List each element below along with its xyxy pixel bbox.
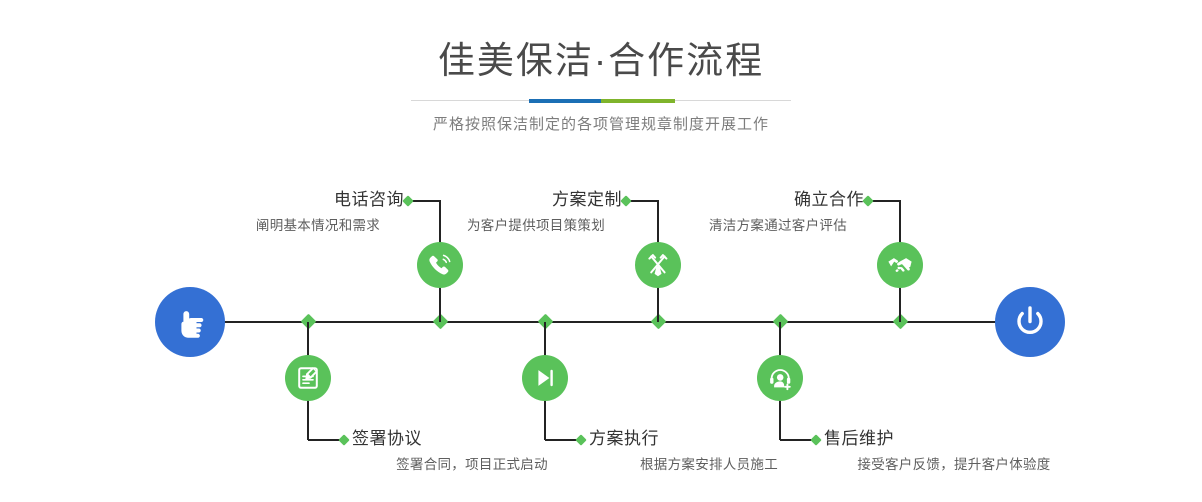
step-icon-phone-call[interactable] — [417, 242, 463, 288]
handshake-icon — [885, 250, 915, 280]
step-label-2: 签署协议 签署合同，项目正式启动 — [352, 427, 592, 474]
step-label-5: 确立合作 清洁方案通过客户评估 — [692, 188, 864, 235]
power-icon — [1009, 301, 1051, 343]
step-icon-play-execute[interactable] — [522, 355, 568, 401]
step-icon-document-edit[interactable] — [285, 355, 331, 401]
step-title: 方案定制 — [450, 188, 622, 213]
step-icon-customer-service[interactable] — [757, 355, 803, 401]
play-execute-icon — [532, 365, 558, 391]
step-connector-horizontal — [545, 439, 579, 441]
step-description: 接受客户反馈，提升客户体验度 — [824, 455, 1084, 475]
step-title: 电话咨询 — [232, 188, 404, 213]
document-edit-icon — [295, 365, 321, 391]
step-label-marker — [338, 434, 349, 445]
step-label-3: 方案定制 为客户提供项目策策划 — [450, 188, 622, 235]
timeline-end-node — [995, 287, 1065, 357]
step-label-marker — [402, 195, 413, 206]
step-description: 签署合同，项目正式启动 — [352, 455, 592, 475]
pointing-hand-icon — [170, 302, 210, 342]
step-description: 根据方案安排人员施工 — [589, 455, 829, 475]
timeline-start-node — [155, 287, 225, 357]
step-description: 清洁方案通过客户评估 — [692, 216, 864, 236]
step-title: 确立合作 — [692, 188, 864, 213]
customer-service-add-icon — [767, 365, 794, 392]
step-description: 阐明基本情况和需求 — [232, 216, 404, 236]
infographic-canvas: 佳美保洁·合作流程 严格按照保洁制定的各项管理规章制度开展工作 — [0, 0, 1202, 502]
step-label-1: 电话咨询 阐明基本情况和需求 — [232, 188, 404, 235]
step-label-4: 方案执行 根据方案安排人员施工 — [589, 427, 829, 474]
step-label-marker — [862, 195, 873, 206]
pencil-design-icon — [644, 251, 672, 279]
phone-call-icon — [426, 251, 454, 279]
step-description: 为客户提供项目策策划 — [450, 216, 622, 236]
step-connector-horizontal — [780, 439, 814, 441]
step-label-6: 售后维护 接受客户反馈，提升客户体验度 — [824, 427, 1084, 474]
step-icon-pencil-design[interactable] — [635, 242, 681, 288]
step-icon-handshake[interactable] — [877, 242, 923, 288]
step-connector-horizontal — [308, 439, 342, 441]
process-timeline: 电话咨询 阐明基本情况和需求 方案定制 为客户提 — [0, 0, 1202, 502]
step-title: 售后维护 — [824, 427, 1084, 452]
step-label-marker — [620, 195, 631, 206]
